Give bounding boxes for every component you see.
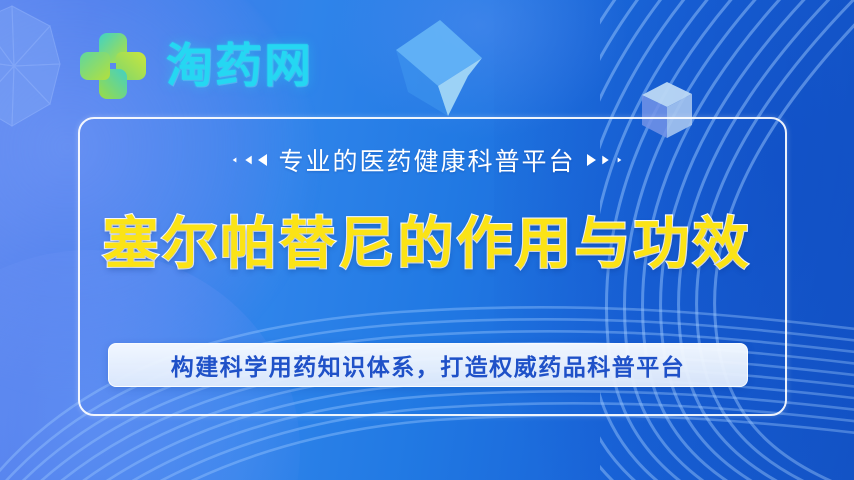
eyebrow: 专业的医药健康科普平台	[0, 142, 854, 178]
eyebrow-text: 专业的医药健康科普平台	[278, 142, 575, 178]
poster-canvas: 淘药网 专业的医药健康科普平台 塞尔帕替尼的作用与功效 构建科学用药知识体系，打…	[0, 0, 854, 480]
triangle-left-icon	[230, 154, 267, 166]
slogan-text: 构建科学用药知识体系，打造权威药品科普平台	[171, 348, 686, 382]
brand-logo: 淘药网	[76, 26, 313, 106]
medical-cross-icon	[76, 29, 150, 103]
triangle-right-icon	[587, 154, 624, 166]
page-title: 塞尔帕替尼的作用与功效	[0, 212, 854, 278]
3d-open-box-icon	[384, 14, 488, 122]
brand-name: 淘药网	[166, 43, 313, 90]
triangulated-half-circle-icon	[0, 2, 62, 130]
slogan-banner: 构建科学用药知识体系，打造权威药品科普平台	[108, 343, 748, 387]
